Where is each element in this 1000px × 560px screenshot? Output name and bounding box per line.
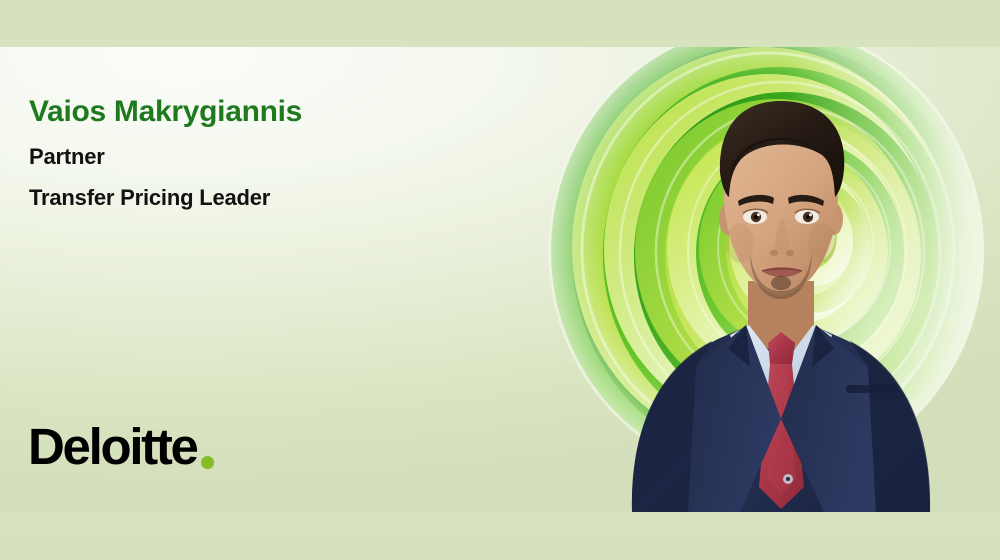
banner-stage: Vaios Makrygiannis Partner Transfer Pric… xyxy=(0,47,1000,512)
top-tint-band xyxy=(0,0,1000,47)
deloitte-wordmark: Deloitte xyxy=(28,421,197,472)
person-title-label: Transfer Pricing Leader xyxy=(29,185,499,211)
profile-banner: Vaios Makrygiannis Partner Transfer Pric… xyxy=(0,0,1000,560)
deloitte-dot-icon xyxy=(201,456,214,469)
person-info-block: Vaios Makrygiannis Partner Transfer Pric… xyxy=(29,94,499,211)
page-title: Vaios Makrygiannis xyxy=(29,94,499,129)
deloitte-logo: Deloitte xyxy=(28,421,214,472)
bottom-tint-band xyxy=(0,512,1000,560)
person-role-label: Partner xyxy=(29,144,499,170)
business-portrait-photo xyxy=(600,67,960,512)
